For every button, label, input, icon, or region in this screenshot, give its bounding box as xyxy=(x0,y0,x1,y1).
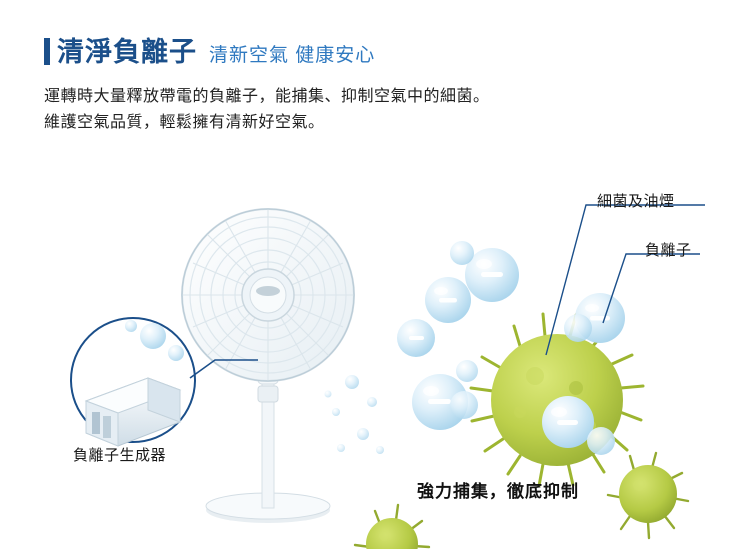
page-title: 清淨負離子 xyxy=(57,39,197,66)
label-bacteria-and-fumes: 細菌及油煙 xyxy=(597,190,675,211)
intro-text: 運轉時大量釋放帶電的負離子，能捕集、抑制空氣中的細菌。 維護空氣品質，輕鬆擁有清… xyxy=(44,84,704,137)
label-anion-generator: 負離子生成器 xyxy=(73,444,166,465)
page-headline: 清淨負離子 清新空氣 健康安心 xyxy=(44,34,375,66)
intro-line-1: 運轉時大量釋放帶電的負離子，能捕集、抑制空氣中的細菌。 xyxy=(44,84,704,110)
bottom-caption: 強力捕集，徹底抑制 xyxy=(417,477,579,502)
intro-line-2: 維護空氣品質，輕鬆擁有清新好空氣。 xyxy=(44,110,704,136)
headline-bar-icon xyxy=(44,38,50,65)
page-subtitle: 清新空氣 健康安心 xyxy=(209,46,375,65)
product-feature-panel: 清淨負離子 清新空氣 健康安心 運轉時大量釋放帶電的負離子，能捕集、抑制空氣中的… xyxy=(0,0,750,549)
label-anion: 負離子 xyxy=(645,239,692,260)
